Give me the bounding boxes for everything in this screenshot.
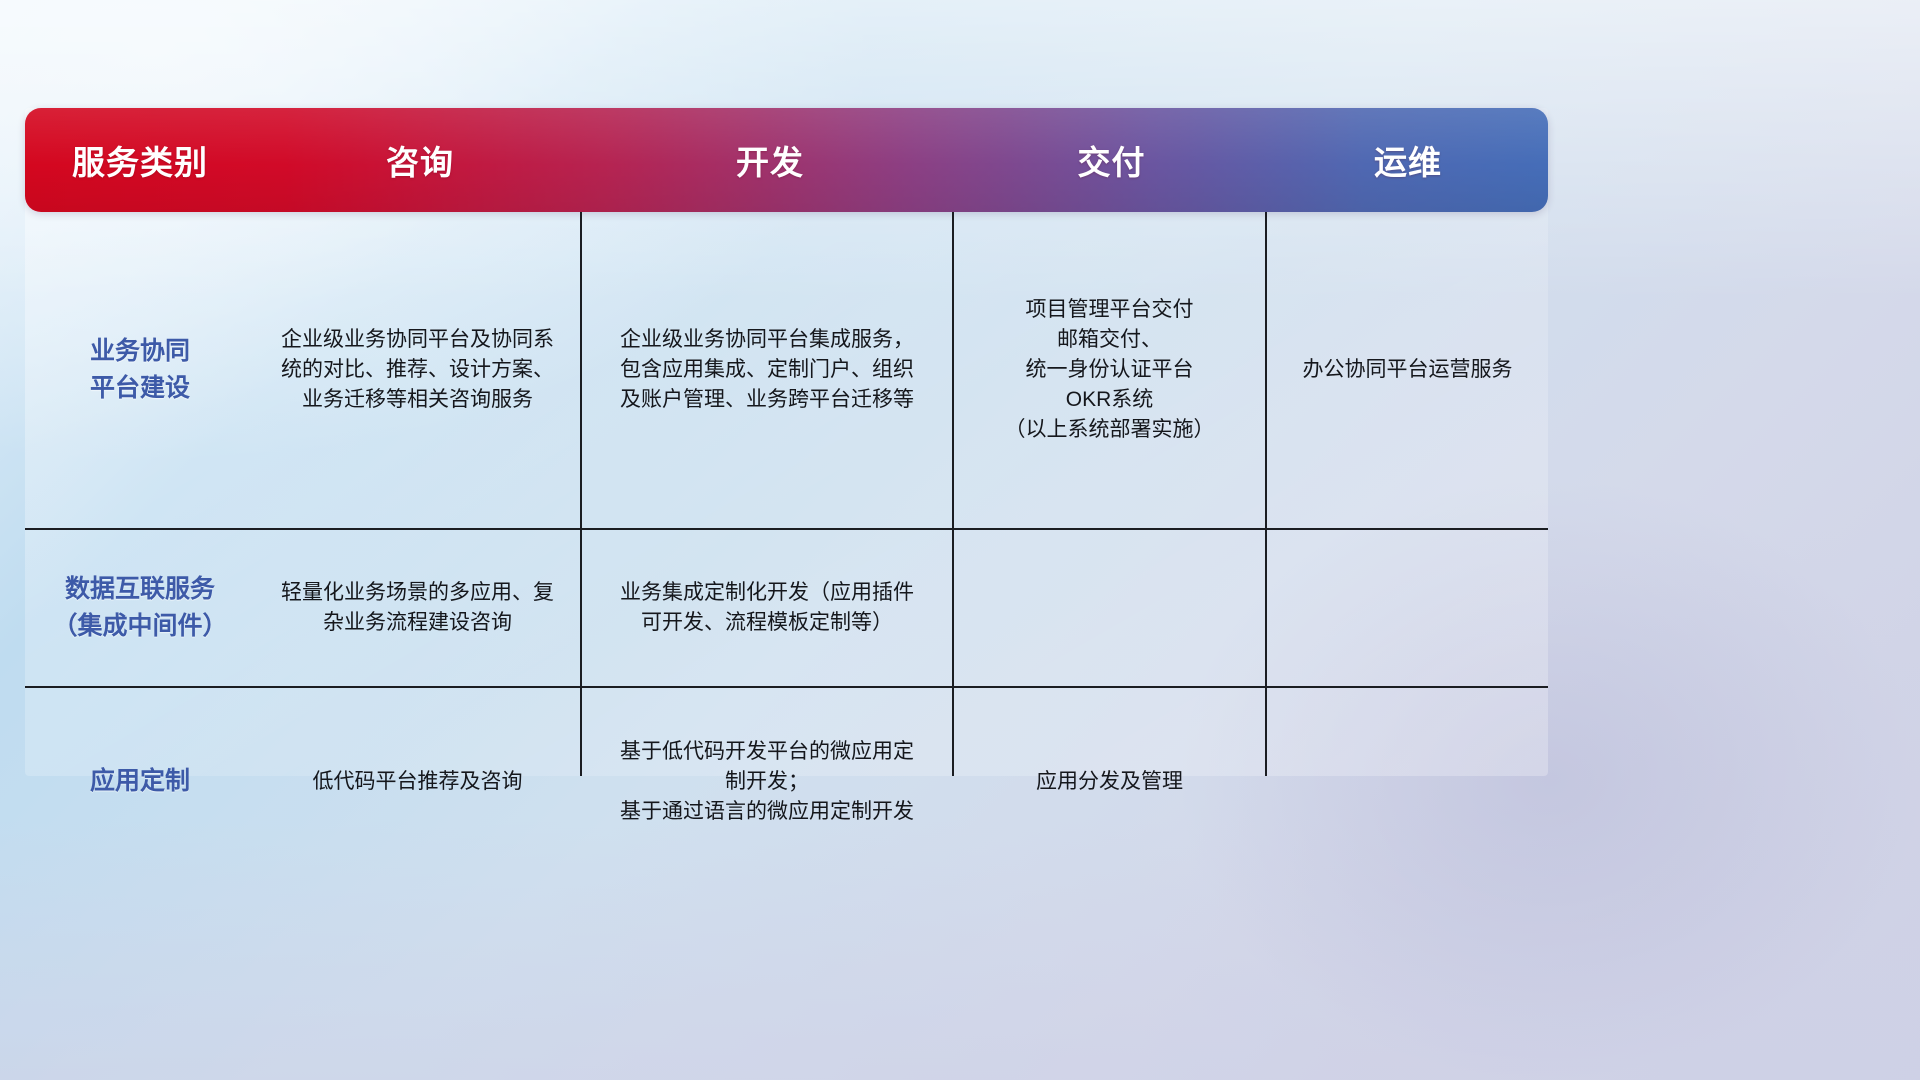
row-1-operations: 办公协同平台运营服务 <box>1267 212 1548 528</box>
row-2-consulting: 轻量化业务场景的多应用、复 杂业务流程建设咨询 <box>255 530 580 686</box>
row-2-development: 业务集成定制化开发（应用插件 可开发、流程模板定制等） <box>582 530 952 686</box>
row-1-delivery: 项目管理平台交付 邮箱交付、 统一身份认证平台 OKR系统 （以上系统部署实施） <box>954 212 1265 528</box>
column-header-consulting[interactable]: 咨询 <box>255 108 585 212</box>
column-header-service-category[interactable]: 服务类别 <box>25 108 255 212</box>
column-header-development[interactable]: 开发 <box>585 108 955 212</box>
table-header-row: 服务类别 咨询 开发 交付 运维 <box>25 108 1548 212</box>
row-1-development: 企业级业务协同平台集成服务， 包含应用集成、定制门户、组织 及账户管理、业务跨平… <box>582 212 952 528</box>
row-2-operations <box>1267 530 1548 686</box>
row-3-development: 基于低代码开发平台的微应用定 制开发； 基于通过语言的微应用定制开发 <box>582 688 952 876</box>
row-3-delivery: 应用分发及管理 <box>954 688 1265 876</box>
row-1-category: 业务协同 平台建设 <box>25 212 255 528</box>
row-2-delivery <box>954 530 1265 686</box>
row-3-operations <box>1267 688 1548 876</box>
table-body: 业务协同 平台建设 企业级业务协同平台及协同系 统的对比、推荐、设计方案、 业务… <box>25 212 1548 776</box>
slide-canvas: 服务类别 咨询 开发 交付 运维 业务协同 平台建设 企业级业务协同平台及协同系… <box>0 0 1920 1080</box>
row-1-consulting: 企业级业务协同平台及协同系 统的对比、推荐、设计方案、 业务迁移等相关咨询服务 <box>255 212 580 528</box>
column-header-operations[interactable]: 运维 <box>1268 108 1548 212</box>
row-3-consulting: 低代码平台推荐及咨询 <box>255 688 580 876</box>
service-matrix-table: 服务类别 咨询 开发 交付 运维 业务协同 平台建设 企业级业务协同平台及协同系… <box>25 108 1548 776</box>
row-3-category: 应用定制 <box>25 688 255 876</box>
column-header-delivery[interactable]: 交付 <box>955 108 1268 212</box>
row-2-category: 数据互联服务 （集成中间件） <box>25 530 255 686</box>
